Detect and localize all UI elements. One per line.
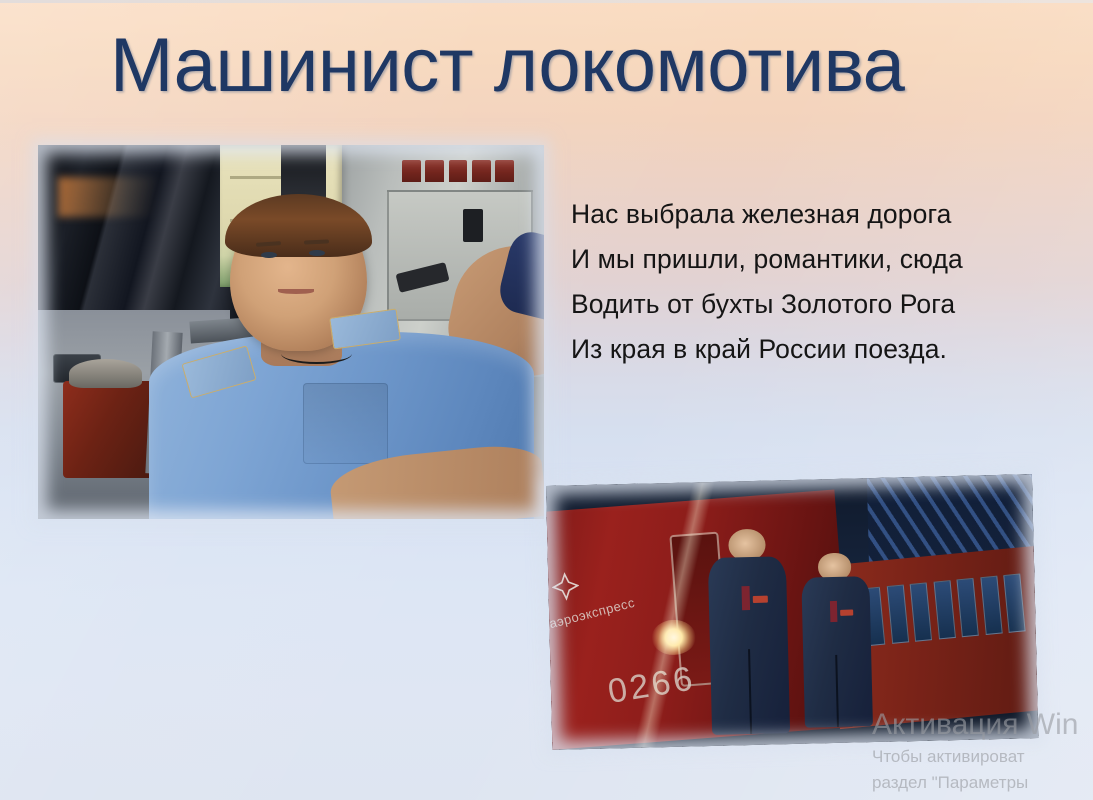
poem-line: Из края в край России поезда. [571, 327, 1071, 372]
poem-text-block: Нас выбрала железная дорога И мы пришли,… [571, 192, 1071, 372]
photo-locomotive-cab-portrait[interactable] [38, 145, 544, 519]
crew-member-junior [800, 552, 872, 728]
crew-junior-tie [830, 601, 837, 622]
crew-junior-legs [836, 655, 840, 727]
presentation-slide: Машинист локомотива [0, 0, 1093, 800]
watermark-line-3: раздел "Параметры [872, 770, 1093, 796]
watermark-line-2: Чтобы активироват [872, 744, 1093, 770]
cab-circuit-breakers [402, 160, 513, 182]
aeroexpress-star-logo [551, 567, 581, 607]
poem-line: И мы пришли, романтики, сюда [571, 237, 1071, 282]
crew-member-senior [707, 528, 790, 736]
cab-red-controller [63, 381, 154, 478]
crew-depot-background: аэроэкспресс 0266 [546, 474, 1038, 750]
poem-line: Нас выбрала железная дорога [571, 192, 1071, 237]
depot-lamp-glow [651, 620, 696, 655]
photo-train-crew-night[interactable]: аэроэкспресс 0266 [546, 474, 1038, 750]
cab-window-panes [38, 145, 240, 325]
crew-junior-badge [840, 610, 854, 616]
train-number-text: 0266 [605, 659, 698, 712]
cab-toggle-switch [463, 209, 483, 243]
crew-senior-legs [748, 649, 752, 734]
driver-left-eye [261, 252, 277, 259]
page-title: Машинист локомотива [110, 26, 1040, 106]
poem-line: Водить от бухты Золотого Рога [571, 282, 1071, 327]
crew-junior-uniform [801, 576, 873, 727]
crew-senior-badge [753, 596, 769, 603]
cab-background [38, 145, 544, 519]
crew-senior-tie [742, 586, 750, 611]
crew-senior-uniform [708, 556, 790, 735]
